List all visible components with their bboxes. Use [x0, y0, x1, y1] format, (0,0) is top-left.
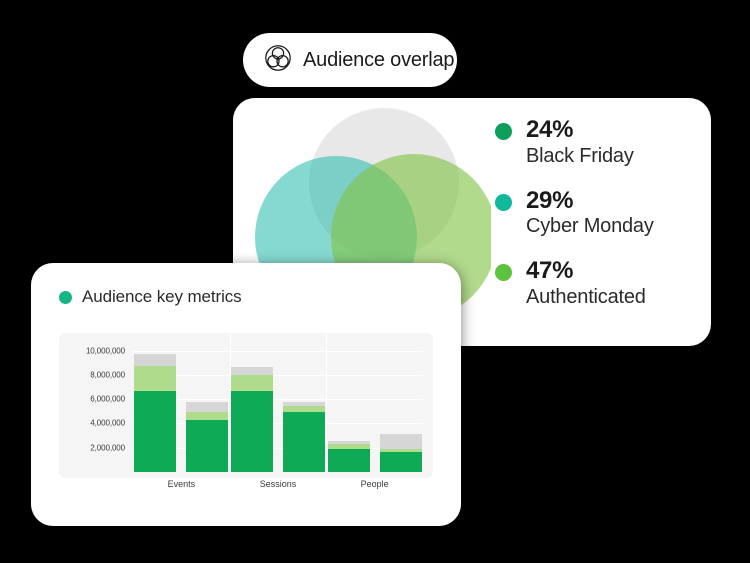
legend-dot-authenticated: [495, 264, 512, 281]
x-axis-tick-label: People: [361, 479, 389, 489]
y-axis-tick-label: 4,000,000: [90, 419, 125, 428]
chart-bar-segment-primary: [283, 412, 325, 472]
chart-bar[interactable]: [231, 367, 273, 472]
legend-item-authenticated[interactable]: 47% Authenticated: [495, 257, 701, 309]
gridline: [133, 423, 423, 424]
legend-item-black-friday[interactable]: 24% Black Friday: [495, 116, 701, 168]
chart-bar-segment-primary: [231, 391, 273, 472]
chart-bar-segment-secondary: [134, 366, 176, 391]
audience-overlap-pill[interactable]: Audience overlap: [243, 33, 457, 87]
x-axis-tick-label: Events: [168, 479, 196, 489]
venn-diagram-icon: [265, 45, 291, 76]
legend-percent: 29%: [526, 187, 654, 215]
chart-bar-segment-remainder: [231, 367, 273, 375]
legend-percent: 47%: [526, 257, 646, 285]
y-axis-tick-label: 8,000,000: [90, 370, 125, 379]
y-axis-tick-label: 2,000,000: [90, 443, 125, 452]
chart-bar[interactable]: [380, 434, 422, 472]
chart-bar-segment-primary: [328, 449, 370, 472]
chart-bar-segment-secondary: [186, 412, 228, 420]
gridline: [133, 399, 423, 400]
y-axis-tick-label: 6,000,000: [90, 395, 125, 404]
bar-chart-plot-area: 2,000,0004,000,0006,000,0008,000,00010,0…: [133, 341, 423, 472]
chart-bar-segment-remainder: [380, 434, 422, 449]
chart-bar-segment-primary: [186, 420, 228, 472]
gridline: [133, 351, 423, 352]
gridline: [133, 375, 423, 376]
y-axis-tick-label: 10,000,000: [86, 346, 125, 355]
audience-overlap-pill-label: Audience overlap: [303, 49, 454, 72]
chart-bar-segment-secondary: [231, 375, 273, 391]
legend-label: Black Friday: [526, 144, 634, 168]
audience-key-metrics-card: Audience key metrics 2,000,0004,000,0006…: [31, 263, 461, 526]
chart-bar[interactable]: [328, 441, 370, 472]
metrics-card-title: Audience key metrics: [82, 287, 242, 307]
metrics-header-dot: [59, 291, 72, 304]
bar-chart-panel: 2,000,0004,000,0006,000,0008,000,00010,0…: [59, 333, 433, 478]
chart-bar-segment-remainder: [134, 354, 176, 367]
legend-label: Cyber Monday: [526, 214, 654, 238]
legend-item-cyber-monday[interactable]: 29% Cyber Monday: [495, 187, 701, 239]
legend-label: Authenticated: [526, 285, 646, 309]
chart-bar[interactable]: [134, 354, 176, 472]
legend-dot-cyber-monday: [495, 194, 512, 211]
legend-dot-black-friday: [495, 123, 512, 140]
overlap-legend: 24% Black Friday 29% Cyber Monday 47% Au…: [495, 116, 701, 328]
legend-percent: 24%: [526, 116, 634, 144]
metrics-card-header: Audience key metrics: [31, 263, 461, 307]
chart-bar[interactable]: [186, 402, 228, 472]
x-axis-tick-label: Sessions: [260, 479, 297, 489]
chart-bar[interactable]: [283, 402, 325, 472]
chart-bar-segment-primary: [134, 391, 176, 472]
chart-bar-segment-primary: [380, 452, 422, 472]
chart-bar-segment-remainder: [186, 402, 228, 412]
